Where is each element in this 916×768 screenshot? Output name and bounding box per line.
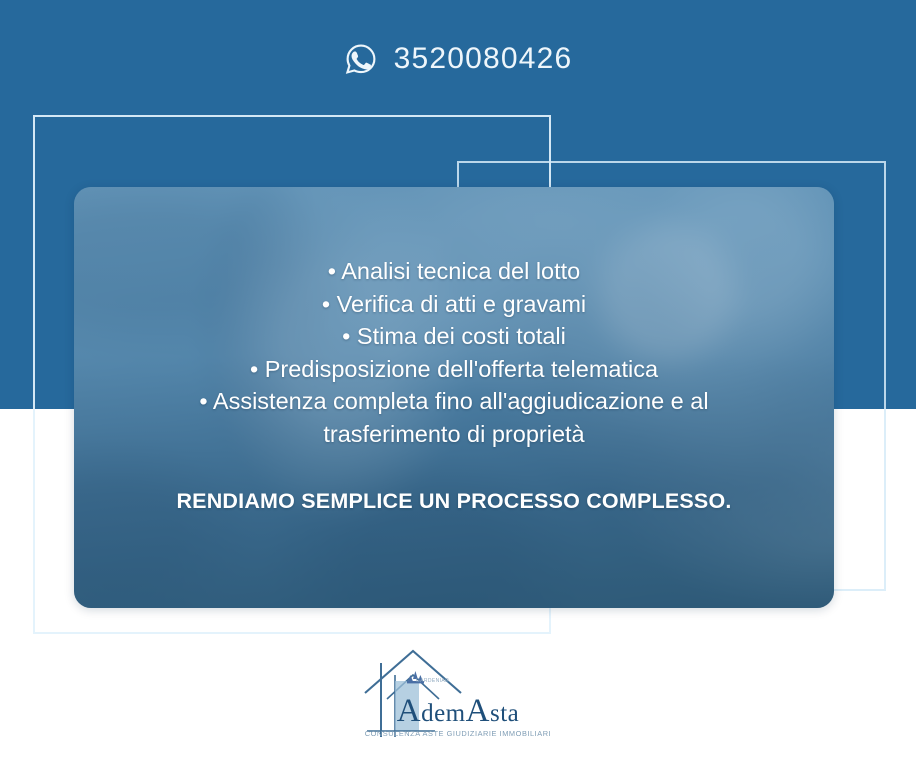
poster-root: 3520080426 Analisi tecnica del lotto Ver… bbox=[0, 0, 916, 768]
contact-row: 3520080426 bbox=[0, 36, 916, 82]
card-tagline: RENDIAMO SEMPLICE UN PROCESSO COMPLESSO. bbox=[176, 489, 731, 514]
logo-block: GARDENIAR AdemAsta CONSULENZA ASTE GIUDI… bbox=[0, 645, 916, 750]
logo-wordmark: AdemAsta bbox=[351, 693, 566, 732]
logo-brand-a2: A bbox=[466, 693, 490, 729]
logo-brand-a1: A bbox=[397, 693, 421, 729]
list-item: Verifica di atti e gravami bbox=[74, 288, 834, 321]
list-item-continuation: trasferimento di proprietà bbox=[74, 418, 834, 451]
services-card: Analisi tecnica del lotto Verifica di at… bbox=[74, 187, 834, 608]
logo-inner: GARDENIAR AdemAsta CONSULENZA ASTE GIUDI… bbox=[351, 645, 566, 745]
logo-subtitle: CONSULENZA ASTE GIUDIZIARIE IMMOBILIARI bbox=[351, 729, 566, 738]
logo-brand-dem: dem bbox=[421, 700, 466, 727]
whatsapp-icon bbox=[344, 42, 378, 76]
services-list: Analisi tecnica del lotto Verifica di at… bbox=[74, 255, 834, 450]
list-item: Stima dei costi totali bbox=[74, 320, 834, 353]
list-item: Analisi tecnica del lotto bbox=[74, 255, 834, 288]
list-item: Predisposizione dell'offerta telematica bbox=[74, 353, 834, 386]
card-content: Analisi tecnica del lotto Verifica di at… bbox=[74, 187, 834, 608]
logo-brand-sta: sta bbox=[490, 700, 519, 727]
logo-emblem-text: GARDENIAR bbox=[373, 678, 493, 684]
phone-number[interactable]: 3520080426 bbox=[394, 42, 573, 76]
list-item: Assistenza completa fino all'aggiudicazi… bbox=[74, 385, 834, 418]
